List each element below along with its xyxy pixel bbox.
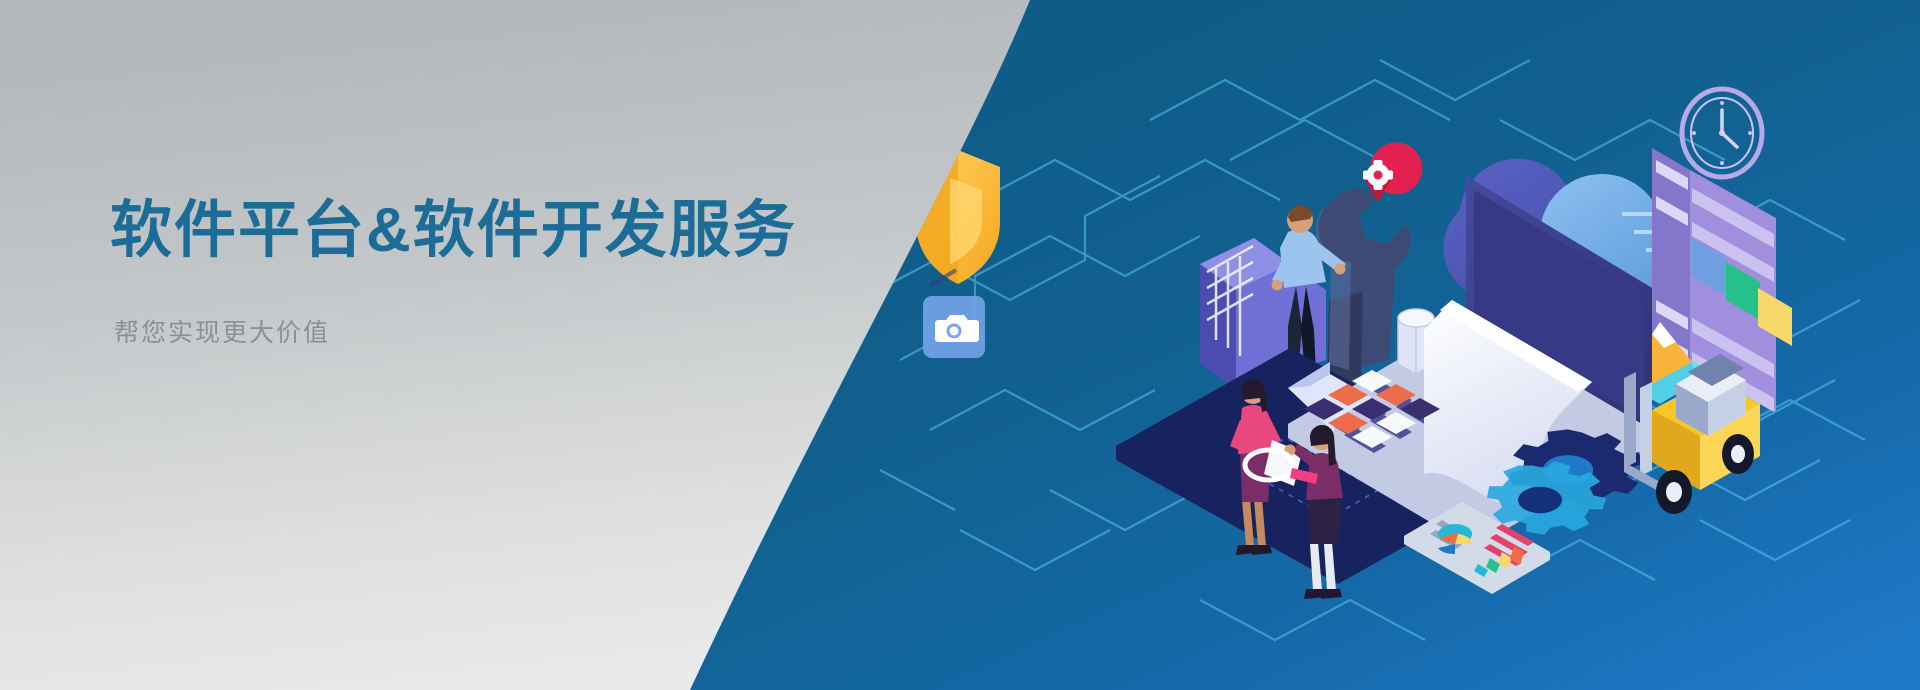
page-title: 软件平台&软件开发服务: [110, 198, 797, 265]
page-subtitle: 帮您实现更大价值: [114, 313, 797, 349]
banner-copy: 软件平台&软件开发服务 帮您实现更大价值: [110, 198, 797, 349]
clock-icon: [1682, 89, 1762, 177]
hero-banner: 软件平台&软件开发服务 帮您实现更大价值: [0, 0, 1920, 690]
